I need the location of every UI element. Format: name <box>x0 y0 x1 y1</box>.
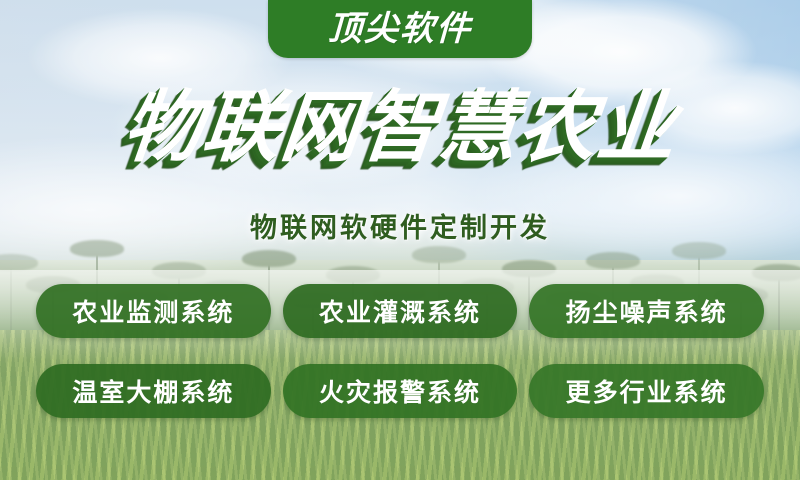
system-pill-label: 扬尘噪声系统 <box>566 293 728 329</box>
system-pill-greenhouse[interactable]: 温室大棚系统 <box>36 364 271 418</box>
system-pill-fire-alarm[interactable]: 火灾报警系统 <box>283 364 518 418</box>
brand-tab[interactable]: 顶尖软件 <box>268 0 532 58</box>
banner-content: 顶尖软件 物联网智慧农业 物联网软硬件定制开发 农业监测系统 农业灌溉系统 扬尘… <box>0 0 800 480</box>
page-subtitle: 物联网软硬件定制开发 <box>0 206 800 245</box>
brand-name: 顶尖软件 <box>327 12 472 46</box>
system-pill-label: 更多行业系统 <box>566 373 728 409</box>
system-pill-monitoring[interactable]: 农业监测系统 <box>36 284 271 338</box>
system-pill-label: 农业灌溉系统 <box>319 293 481 329</box>
system-pill-label: 温室大棚系统 <box>72 373 234 409</box>
system-pill-dust-noise[interactable]: 扬尘噪声系统 <box>529 284 764 338</box>
promo-banner: 顶尖软件 物联网智慧农业 物联网软硬件定制开发 农业监测系统 农业灌溉系统 扬尘… <box>0 0 800 480</box>
system-pill-more-industries[interactable]: 更多行业系统 <box>529 364 764 418</box>
system-pill-irrigation[interactable]: 农业灌溉系统 <box>283 284 518 338</box>
system-pill-label: 火灾报警系统 <box>319 373 481 409</box>
system-list: 农业监测系统 农业灌溉系统 扬尘噪声系统 温室大棚系统 火灾报警系统 更多行业系… <box>36 284 764 418</box>
system-pill-label: 农业监测系统 <box>72 293 234 329</box>
page-title: 物联网智慧农业 <box>0 88 800 166</box>
